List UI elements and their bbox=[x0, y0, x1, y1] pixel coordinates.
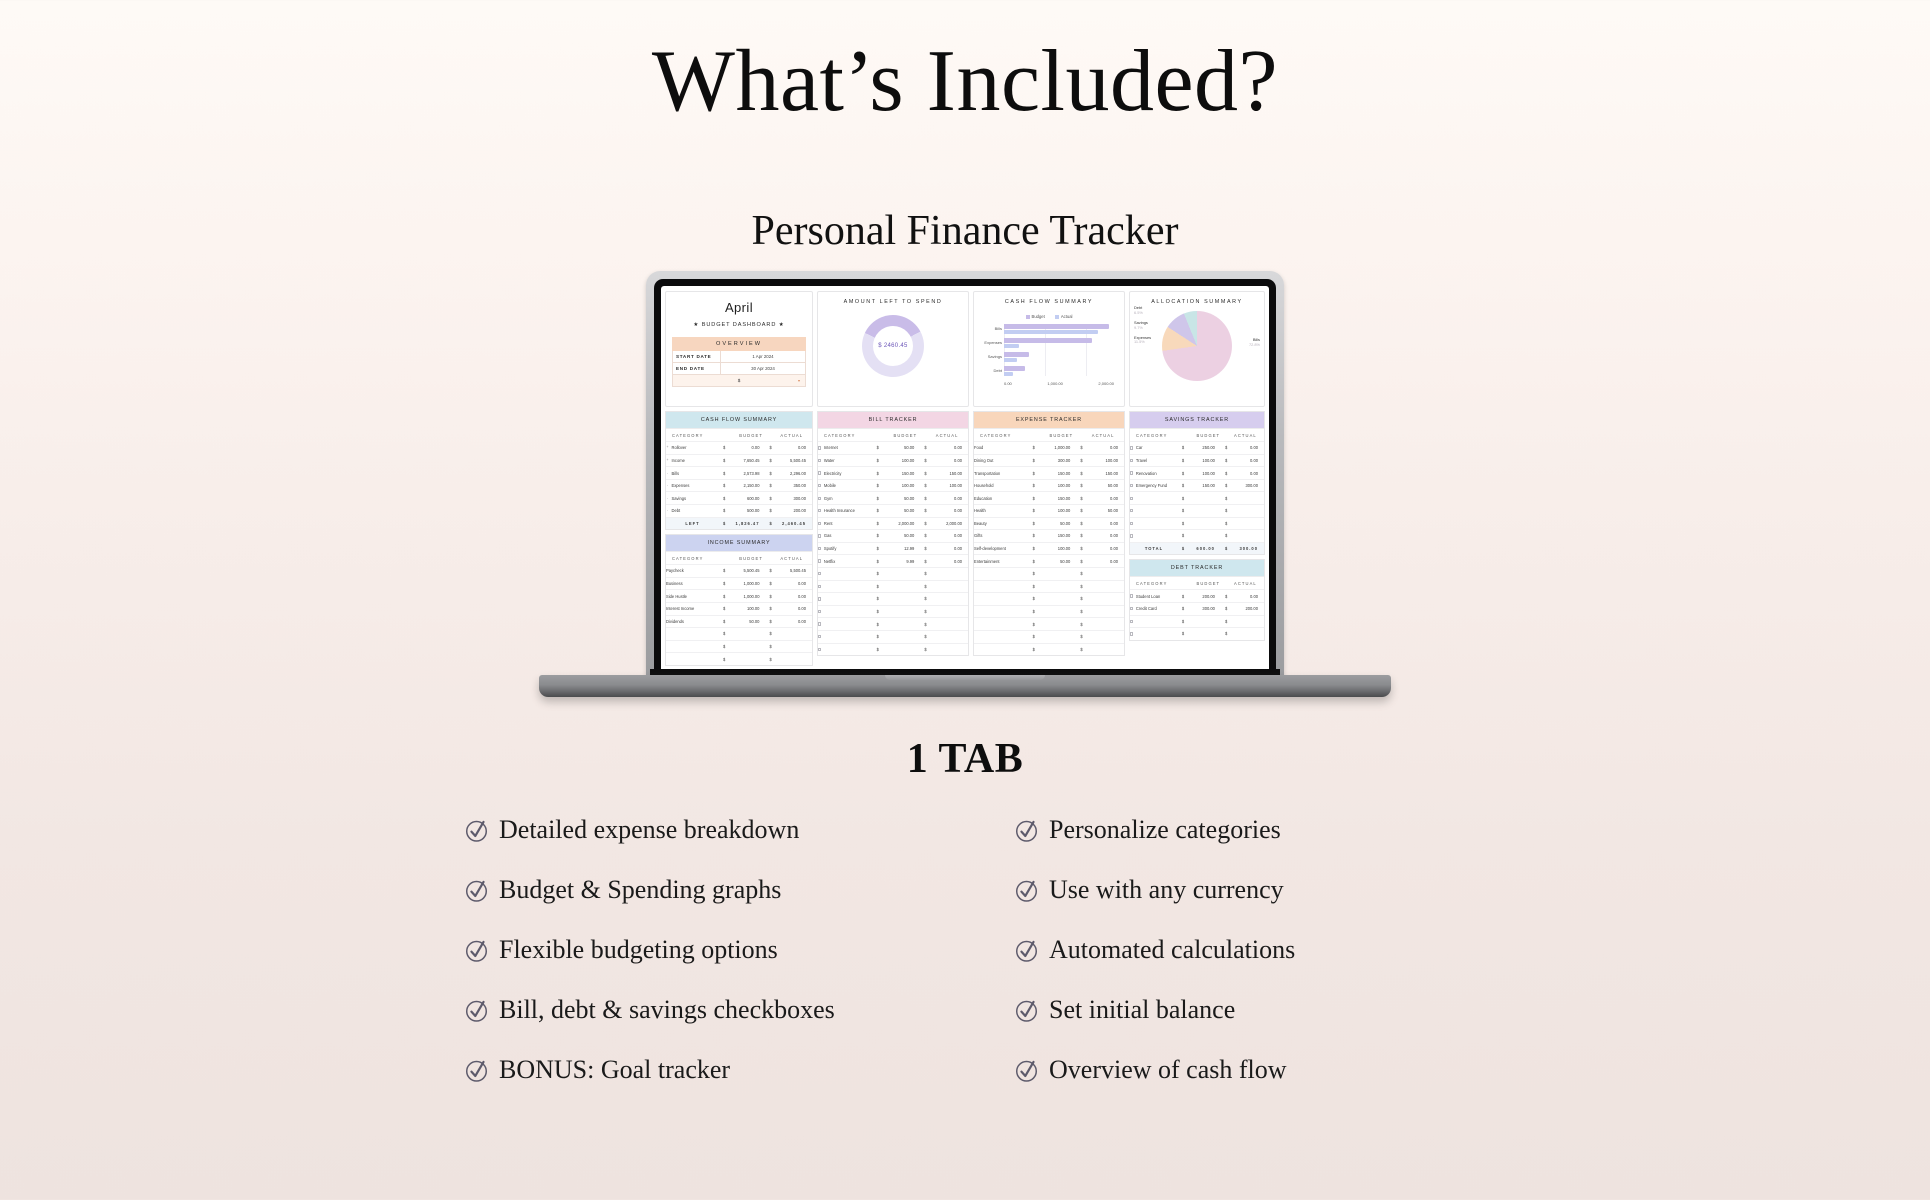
row-actual[interactable]: $2,000.00 bbox=[920, 518, 968, 530]
table-row[interactable]: Household$100.00$50.00 bbox=[974, 479, 1124, 492]
row-budget[interactable]: $ bbox=[1178, 492, 1221, 504]
row-category-label: Education bbox=[974, 496, 992, 501]
checkbox-icon[interactable] bbox=[1130, 534, 1133, 537]
income-summary-title: INCOME SUMMARY bbox=[666, 535, 812, 551]
row-category: Beauty bbox=[974, 518, 1029, 530]
row-category-label: Entertainment bbox=[974, 559, 1000, 564]
income-summary-table: INCOME SUMMARY CATEGORY BUDGET ACTUAL Pa… bbox=[665, 534, 813, 666]
row-actual[interactable]: $ bbox=[1221, 518, 1264, 530]
row-budget[interactable]: $2,150.00 bbox=[719, 480, 766, 492]
row-category-label: Car bbox=[1136, 445, 1143, 450]
feature-label: Flexible budgeting options bbox=[499, 935, 778, 965]
row-budget[interactable]: $ bbox=[873, 644, 921, 656]
row-budget[interactable]: $2,573.98 bbox=[719, 467, 766, 479]
cash-flow-bars: Bills Expenses Savin bbox=[980, 324, 1118, 386]
row-actual[interactable]: $ bbox=[1221, 505, 1264, 517]
table-row[interactable]: $$ bbox=[666, 640, 812, 653]
bar-label-debt: Debt bbox=[980, 368, 1002, 373]
row-actual[interactable]: $ bbox=[920, 606, 968, 618]
row-actual[interactable]: $0.00 bbox=[765, 616, 812, 628]
row-category-label: Household bbox=[974, 483, 994, 488]
checkbox-icon[interactable] bbox=[818, 635, 821, 638]
table-row[interactable]: $$ bbox=[818, 580, 968, 593]
currency-select[interactable]: $ ▾ bbox=[672, 375, 806, 387]
row-actual[interactable]: $ bbox=[1076, 618, 1124, 630]
row-category: Dividends bbox=[666, 616, 719, 628]
row-actual[interactable]: $0.00 bbox=[1221, 467, 1264, 479]
row-actual[interactable]: $0.00 bbox=[765, 578, 812, 590]
table-row[interactable]: $$ bbox=[818, 605, 968, 618]
column-actual: ACTUAL bbox=[1227, 577, 1264, 589]
table-row[interactable]: $$ bbox=[818, 630, 968, 643]
checkbox-icon[interactable] bbox=[1130, 459, 1133, 462]
row-actual[interactable]: $300.00 bbox=[765, 492, 812, 504]
checkbox-icon[interactable] bbox=[1130, 620, 1133, 623]
column-actual: ACTUAL bbox=[1227, 429, 1264, 441]
table-row[interactable]: $$ bbox=[1130, 491, 1264, 504]
table-row[interactable]: Car$250.00$0.00 bbox=[1130, 441, 1264, 454]
row-category bbox=[974, 568, 1029, 580]
checkbox-icon[interactable] bbox=[1130, 607, 1133, 610]
row-actual[interactable]: $ bbox=[920, 644, 968, 656]
row-actual[interactable]: $ bbox=[1076, 593, 1124, 605]
row-budget[interactable]: $ bbox=[873, 581, 921, 593]
row-budget[interactable]: $ bbox=[1178, 505, 1221, 517]
row-actual[interactable]: $0.00 bbox=[1076, 555, 1124, 567]
row-budget[interactable]: $1,000.00 bbox=[719, 590, 766, 602]
row-budget[interactable]: $ bbox=[719, 641, 766, 653]
checkbox-icon[interactable] bbox=[1130, 632, 1133, 635]
row-actual[interactable]: $ bbox=[1221, 530, 1264, 542]
row-actual[interactable]: $200.00 bbox=[1221, 603, 1264, 615]
row-actual[interactable]: $100.00 bbox=[920, 480, 968, 492]
check-circle-icon bbox=[1014, 938, 1039, 963]
row-budget[interactable]: $ bbox=[1029, 593, 1077, 605]
column-budget: BUDGET bbox=[1190, 577, 1227, 589]
row-budget[interactable]: $ bbox=[1178, 518, 1221, 530]
table-row[interactable]: -Savings$600.00$300.00 bbox=[666, 491, 812, 504]
row-budget[interactable]: $600.00 bbox=[719, 492, 766, 504]
row-budget[interactable]: $ bbox=[873, 631, 921, 643]
checkbox-icon[interactable] bbox=[818, 610, 821, 613]
cash-flow-summary-total: LEFT $1,826.47 $2,460.45 bbox=[666, 517, 812, 530]
row-actual[interactable]: $0.00 bbox=[1076, 492, 1124, 504]
table-row[interactable]: Food$1,000.00$0.00 bbox=[974, 441, 1124, 454]
table-row[interactable]: $$ bbox=[974, 567, 1124, 580]
table-row[interactable]: Emergency Fund$150.00$300.00 bbox=[1130, 479, 1264, 492]
bill-tracker-columns: CATEGORY BUDGET ACTUAL bbox=[818, 428, 968, 441]
row-actual[interactable]: $ bbox=[765, 628, 812, 640]
row-actual[interactable]: $ bbox=[765, 641, 812, 653]
row-budget[interactable]: $ bbox=[1178, 530, 1221, 542]
row-budget[interactable]: $100.00 bbox=[1178, 455, 1221, 467]
table-row[interactable]: $$ bbox=[1130, 517, 1264, 530]
start-date-label: START DATE bbox=[673, 351, 720, 362]
row-budget[interactable]: $5,500.45 bbox=[719, 565, 766, 577]
row-actual[interactable]: $150.00 bbox=[1076, 467, 1124, 479]
row-category-label: Credit Card bbox=[1136, 606, 1157, 611]
row-category: Car bbox=[1130, 442, 1178, 454]
row-category bbox=[666, 653, 719, 665]
row-actual[interactable]: $50.00 bbox=[1076, 505, 1124, 517]
row-category-label: Electricity bbox=[824, 471, 842, 476]
table-row[interactable]: Gas$50.00$0.00 bbox=[818, 529, 968, 542]
row-budget[interactable]: $500.00 bbox=[719, 505, 766, 517]
features-column-left: Detailed expense breakdownBudget & Spend… bbox=[456, 815, 926, 1115]
row-budget[interactable]: $ bbox=[1029, 618, 1077, 630]
overview-header: OVERVIEW bbox=[672, 337, 806, 351]
row-category bbox=[974, 644, 1029, 656]
table-row[interactable]: Education$150.00$0.00 bbox=[974, 491, 1124, 504]
checkbox-icon[interactable] bbox=[1130, 497, 1133, 500]
row-category bbox=[818, 568, 873, 580]
checkbox-icon[interactable] bbox=[818, 559, 821, 562]
row-actual[interactable]: $0.00 bbox=[1076, 518, 1124, 530]
checkbox-icon[interactable] bbox=[1130, 509, 1133, 512]
row-actual[interactable]: $0.00 bbox=[920, 530, 968, 542]
cash-flow-summary-table: CASH FLOW SUMMARY CATEGORY BUDGET ACTUAL… bbox=[665, 411, 813, 530]
feature-item: BONUS: Goal tracker bbox=[464, 1055, 926, 1085]
amount-left-title: AMOUNT LEFT TO SPEND bbox=[844, 292, 943, 305]
row-budget[interactable]: $ bbox=[873, 593, 921, 605]
row-budget[interactable]: $150.00 bbox=[1029, 467, 1077, 479]
table-row[interactable]: Renovation$100.00$0.00 bbox=[1130, 466, 1264, 479]
table-row[interactable]: Gym$50.00$0.00 bbox=[818, 491, 968, 504]
table-row[interactable]: Interest Income$100.00$0.00 bbox=[666, 602, 812, 615]
table-row[interactable]: Dividends$50.00$0.00 bbox=[666, 615, 812, 628]
table-row[interactable]: Student Loan$200.00$0.00 bbox=[1130, 589, 1264, 602]
table-row[interactable]: $$ bbox=[666, 652, 812, 665]
row-budget[interactable]: $100.00 bbox=[1029, 543, 1077, 555]
expense-tracker-title: EXPENSE TRACKER bbox=[974, 412, 1124, 428]
row-category: Education bbox=[974, 492, 1029, 504]
column-actual: ACTUAL bbox=[1082, 429, 1124, 441]
table-row[interactable]: Self-development$100.00$0.00 bbox=[974, 542, 1124, 555]
table-row[interactable]: $$ bbox=[974, 643, 1124, 656]
checkbox-icon[interactable] bbox=[818, 497, 821, 500]
row-actual[interactable]: $350.00 bbox=[765, 480, 812, 492]
row-actual[interactable]: $ bbox=[1221, 616, 1264, 628]
row-budget[interactable]: $300.00 bbox=[1029, 455, 1077, 467]
row-budget[interactable]: $ bbox=[719, 628, 766, 640]
row-budget[interactable]: $100.00 bbox=[719, 603, 766, 615]
table-row[interactable]: Beauty$50.00$0.00 bbox=[974, 517, 1124, 530]
check-circle-icon bbox=[1014, 818, 1039, 843]
row-category: Gym bbox=[818, 492, 873, 504]
checkbox-icon[interactable] bbox=[818, 547, 821, 550]
checkbox-icon[interactable] bbox=[818, 572, 821, 575]
row-actual[interactable]: $0.00 bbox=[1221, 455, 1264, 467]
row-actual[interactable]: $ bbox=[1076, 631, 1124, 643]
row-actual[interactable]: $0.00 bbox=[920, 442, 968, 454]
checkbox-icon[interactable] bbox=[818, 471, 821, 474]
row-category: Paycheck bbox=[666, 565, 719, 577]
row-actual[interactable]: $ bbox=[920, 593, 968, 605]
checkbox-icon[interactable] bbox=[1130, 522, 1133, 525]
row-category: Gas bbox=[818, 530, 873, 542]
table-row[interactable]: Travel$100.00$0.00 bbox=[1130, 454, 1264, 467]
row-budget[interactable]: $1,000.00 bbox=[719, 578, 766, 590]
row-actual[interactable]: $0.00 bbox=[1076, 530, 1124, 542]
table-row[interactable]: $$ bbox=[974, 617, 1124, 630]
checkbox-icon[interactable] bbox=[1130, 471, 1133, 474]
row-budget[interactable]: $ bbox=[1029, 631, 1077, 643]
row-budget[interactable]: $ bbox=[1029, 568, 1077, 580]
row-actual[interactable]: $ bbox=[920, 581, 968, 593]
row-budget[interactable]: $ bbox=[873, 606, 921, 618]
checkbox-icon[interactable] bbox=[818, 509, 821, 512]
row-budget[interactable]: $ bbox=[873, 618, 921, 630]
row-actual[interactable]: $ bbox=[765, 653, 812, 665]
check-circle-icon bbox=[464, 998, 489, 1023]
row-budget[interactable]: $2,000.00 bbox=[873, 518, 921, 530]
row-actual[interactable]: $0.00 bbox=[920, 543, 968, 555]
allocation-callouts-left: Debt 6.5% Savings 9.7% Expenses 11.5% bbox=[1134, 306, 1151, 350]
row-category: Spotify bbox=[818, 543, 873, 555]
column-budget: BUDGET bbox=[731, 552, 772, 564]
table-row[interactable]: $$ bbox=[974, 605, 1124, 618]
row-actual[interactable]: $300.00 bbox=[1221, 480, 1264, 492]
total-label: LEFT bbox=[666, 518, 719, 530]
row-category bbox=[1130, 616, 1178, 628]
total-budget: $600.00 bbox=[1178, 543, 1221, 555]
table-row[interactable]: $$ bbox=[1130, 627, 1264, 640]
row-category-label: Self-development bbox=[974, 546, 1006, 551]
table-row[interactable]: -Bills$2,573.98$2,296.00 bbox=[666, 466, 812, 479]
end-date-value[interactable]: 30 Apr 2024 bbox=[720, 363, 805, 374]
row-category-label: Rent bbox=[824, 521, 833, 526]
row-budget[interactable]: $100.00 bbox=[873, 455, 921, 467]
row-budget[interactable]: $9.99 bbox=[873, 555, 921, 567]
row-budget[interactable]: $0.00 bbox=[719, 442, 766, 454]
checkbox-icon[interactable] bbox=[818, 648, 821, 651]
row-budget[interactable]: $ bbox=[719, 653, 766, 665]
row-actual[interactable]: $ bbox=[1076, 644, 1124, 656]
table-row[interactable]: Spotify$12.99$0.00 bbox=[818, 542, 968, 555]
row-budget[interactable]: $100.00 bbox=[1029, 480, 1077, 492]
pie-callout-debt-value: 6.5% bbox=[1134, 311, 1151, 316]
table-row[interactable]: $$ bbox=[1130, 529, 1264, 542]
row-budget[interactable]: $100.00 bbox=[1029, 505, 1077, 517]
pie-slices bbox=[1162, 311, 1232, 381]
table-row[interactable]: -Expenses$2,150.00$350.00 bbox=[666, 479, 812, 492]
amount-left-panel: AMOUNT LEFT TO SPEND $ 2460.45 bbox=[817, 291, 969, 407]
row-budget[interactable]: $ bbox=[1178, 628, 1221, 640]
table-row[interactable]: $$ bbox=[974, 630, 1124, 643]
row-budget[interactable]: $ bbox=[873, 568, 921, 580]
row-actual[interactable]: $ bbox=[1221, 628, 1264, 640]
table-row[interactable]: Health Insurance$50.00$0.00 bbox=[818, 504, 968, 517]
checkbox-icon[interactable] bbox=[818, 622, 821, 625]
row-category-label: Rollover bbox=[672, 445, 687, 450]
row-budget[interactable]: $7,650.45 bbox=[719, 455, 766, 467]
checkbox-icon[interactable] bbox=[1130, 594, 1133, 597]
row-category: -Expenses bbox=[666, 480, 719, 492]
table-row[interactable]: $$ bbox=[974, 580, 1124, 593]
checkbox-icon[interactable] bbox=[818, 484, 821, 487]
table-row[interactable]: Dining Out$300.00$100.00 bbox=[974, 454, 1124, 467]
table-row[interactable]: $$ bbox=[818, 567, 968, 580]
row-actual[interactable]: $ bbox=[1076, 568, 1124, 580]
table-row[interactable]: Water$100.00$0.00 bbox=[818, 454, 968, 467]
row-category: Electricity bbox=[818, 467, 873, 479]
row-budget[interactable]: $ bbox=[1029, 581, 1077, 593]
table-row[interactable]: Credit Card$300.00$200.00 bbox=[1130, 602, 1264, 615]
row-category-label: Business bbox=[666, 581, 683, 586]
row-budget[interactable]: $100.00 bbox=[1178, 467, 1221, 479]
allocation-pie-chart bbox=[1162, 311, 1232, 381]
table-row[interactable]: $$ bbox=[1130, 615, 1264, 628]
table-row[interactable]: Gifts$150.00$0.00 bbox=[974, 529, 1124, 542]
row-actual[interactable]: $ bbox=[1076, 606, 1124, 618]
feature-label: Bill, debt & savings checkboxes bbox=[499, 995, 835, 1025]
row-budget[interactable]: $ bbox=[1029, 606, 1077, 618]
start-date-value[interactable]: 1 Apr 2024 bbox=[720, 351, 805, 362]
table-row[interactable]: $$ bbox=[666, 627, 812, 640]
table-row[interactable]: Side Hustle$1,000.00$0.00 bbox=[666, 589, 812, 602]
table-row[interactable]: $$ bbox=[818, 643, 968, 656]
table-row[interactable]: Internet$50.00$0.00 bbox=[818, 441, 968, 454]
column-budget: BUDGET bbox=[1041, 429, 1083, 441]
row-actual[interactable]: $0.00 bbox=[765, 442, 812, 454]
row-actual[interactable]: $200.00 bbox=[765, 505, 812, 517]
table-row[interactable]: Mobile$100.00$100.00 bbox=[818, 479, 968, 492]
table-row[interactable]: $$ bbox=[818, 592, 968, 605]
row-budget[interactable]: $ bbox=[1178, 616, 1221, 628]
row-budget[interactable]: $12.99 bbox=[873, 543, 921, 555]
row-actual[interactable]: $0.00 bbox=[1221, 442, 1264, 454]
table-row[interactable]: Paycheck$5,500.45$5,500.45 bbox=[666, 564, 812, 577]
row-budget[interactable]: $50.00 bbox=[873, 530, 921, 542]
checkbox-icon[interactable] bbox=[818, 522, 821, 525]
row-category-label: Bills bbox=[672, 471, 680, 476]
row-budget[interactable]: $50.00 bbox=[1029, 518, 1077, 530]
bill-tracker-table: BILL TRACKER CATEGORY BUDGET ACTUAL Inte… bbox=[817, 411, 969, 656]
row-budget[interactable]: $300.00 bbox=[1178, 603, 1221, 615]
row-category bbox=[1130, 492, 1178, 504]
row-budget[interactable]: $50.00 bbox=[719, 616, 766, 628]
row-actual[interactable]: $0.00 bbox=[1221, 590, 1264, 602]
checkbox-icon[interactable] bbox=[818, 585, 821, 588]
table-row[interactable]: Rent$2,000.00$2,000.00 bbox=[818, 517, 968, 530]
cash-flow-chart-title: CASH FLOW SUMMARY bbox=[980, 292, 1118, 305]
checkbox-icon[interactable] bbox=[1130, 446, 1133, 449]
table-row[interactable]: Health$100.00$50.00 bbox=[974, 504, 1124, 517]
table-row[interactable]: +Rollover$0.00$0.00 bbox=[666, 441, 812, 454]
checkbox-icon[interactable] bbox=[818, 534, 821, 537]
row-budget[interactable]: $1,000.00 bbox=[1029, 442, 1077, 454]
row-category bbox=[974, 593, 1029, 605]
pie-callout-debt: Debt 6.5% bbox=[1134, 306, 1151, 316]
row-budget[interactable]: $150.00 bbox=[1178, 480, 1221, 492]
column-actual: ACTUAL bbox=[926, 429, 968, 441]
sign-icon: - bbox=[666, 509, 669, 512]
cash-flow-chart-panel: CASH FLOW SUMMARY Budget Actual Bills bbox=[973, 291, 1125, 407]
row-category bbox=[1130, 530, 1178, 542]
row-actual[interactable]: $100.00 bbox=[1076, 455, 1124, 467]
checkbox-icon[interactable] bbox=[1130, 484, 1133, 487]
row-actual[interactable]: $150.00 bbox=[920, 467, 968, 479]
bill-tracker-title: BILL TRACKER bbox=[818, 412, 968, 428]
row-budget[interactable]: $ bbox=[1029, 644, 1077, 656]
product-subtitle: Personal Finance Tracker bbox=[0, 207, 1930, 255]
row-budget[interactable]: $200.00 bbox=[1178, 590, 1221, 602]
row-budget[interactable]: $50.00 bbox=[873, 505, 921, 517]
row-actual[interactable]: $ bbox=[1076, 581, 1124, 593]
legend-actual-label: Actual bbox=[1061, 314, 1073, 319]
table-row[interactable]: +Income$7,650.45$5,500.45 bbox=[666, 454, 812, 467]
row-actual[interactable]: $2,296.00 bbox=[765, 467, 812, 479]
legend-budget: Budget bbox=[1026, 314, 1045, 319]
row-actual[interactable]: $0.00 bbox=[1076, 442, 1124, 454]
bar-label-savings: Savings bbox=[980, 354, 1002, 359]
row-actual[interactable]: $ bbox=[920, 568, 968, 580]
sign-icon: - bbox=[666, 497, 669, 500]
legend-actual: Actual bbox=[1055, 314, 1073, 319]
row-budget[interactable]: $50.00 bbox=[1029, 555, 1077, 567]
table-row[interactable]: $$ bbox=[1130, 504, 1264, 517]
row-actual[interactable]: $5,500.45 bbox=[765, 455, 812, 467]
row-budget[interactable]: $150.00 bbox=[873, 467, 921, 479]
row-category bbox=[818, 606, 873, 618]
debt-tracker-title: DEBT TRACKER bbox=[1130, 560, 1264, 576]
checkbox-icon[interactable] bbox=[818, 459, 821, 462]
row-budget[interactable]: $150.00 bbox=[1029, 492, 1077, 504]
savings-tracker-title: SAVINGS TRACKER bbox=[1130, 412, 1264, 428]
row-actual[interactable]: $0.00 bbox=[765, 590, 812, 602]
table-row[interactable]: Netflix$9.99$0.00 bbox=[818, 554, 968, 567]
checkbox-icon[interactable] bbox=[818, 597, 821, 600]
row-actual[interactable]: $ bbox=[1221, 492, 1264, 504]
row-actual[interactable]: $50.00 bbox=[1076, 480, 1124, 492]
row-budget[interactable]: $250.00 bbox=[1178, 442, 1221, 454]
row-actual[interactable]: $0.00 bbox=[765, 603, 812, 615]
row-category bbox=[818, 593, 873, 605]
row-actual[interactable]: $0.00 bbox=[920, 555, 968, 567]
row-actual[interactable]: $0.00 bbox=[920, 505, 968, 517]
row-category: -Debt bbox=[666, 505, 719, 517]
checkbox-icon[interactable] bbox=[818, 446, 821, 449]
income-summary-body: Paycheck$5,500.45$5,500.45Business$1,000… bbox=[666, 564, 812, 665]
row-actual[interactable]: $ bbox=[920, 631, 968, 643]
row-budget[interactable]: $50.00 bbox=[873, 442, 921, 454]
table-row[interactable]: Transportation$150.00$150.00 bbox=[974, 466, 1124, 479]
row-budget[interactable]: $150.00 bbox=[1029, 530, 1077, 542]
row-category bbox=[1130, 518, 1178, 530]
row-actual[interactable]: $0.00 bbox=[920, 492, 968, 504]
row-budget[interactable]: $50.00 bbox=[873, 492, 921, 504]
row-actual[interactable]: $5,500.45 bbox=[765, 565, 812, 577]
table-row[interactable]: $$ bbox=[818, 617, 968, 630]
allocation-chart-title: ALLOCATION SUMMARY bbox=[1130, 292, 1264, 305]
row-budget[interactable]: $100.00 bbox=[873, 480, 921, 492]
table-row[interactable]: Electricity$150.00$150.00 bbox=[818, 466, 968, 479]
row-category-label: Internet bbox=[824, 445, 838, 450]
table-row[interactable]: Business$1,000.00$0.00 bbox=[666, 577, 812, 590]
table-row[interactable]: Entertainment$50.00$0.00 bbox=[974, 554, 1124, 567]
table-row[interactable]: -Debt$500.00$200.00 bbox=[666, 504, 812, 517]
column-budget: BUDGET bbox=[1190, 429, 1227, 441]
laptop-base bbox=[539, 675, 1391, 697]
row-actual[interactable]: $ bbox=[920, 618, 968, 630]
row-category-label: Savings bbox=[672, 496, 687, 501]
row-actual[interactable]: $0.00 bbox=[1076, 543, 1124, 555]
row-category: Student Loan bbox=[1130, 590, 1178, 602]
bar-group-debt: Debt bbox=[1004, 366, 1114, 379]
sign-icon: - bbox=[666, 472, 669, 475]
table-row[interactable]: $$ bbox=[974, 592, 1124, 605]
row-actual[interactable]: $0.00 bbox=[920, 455, 968, 467]
